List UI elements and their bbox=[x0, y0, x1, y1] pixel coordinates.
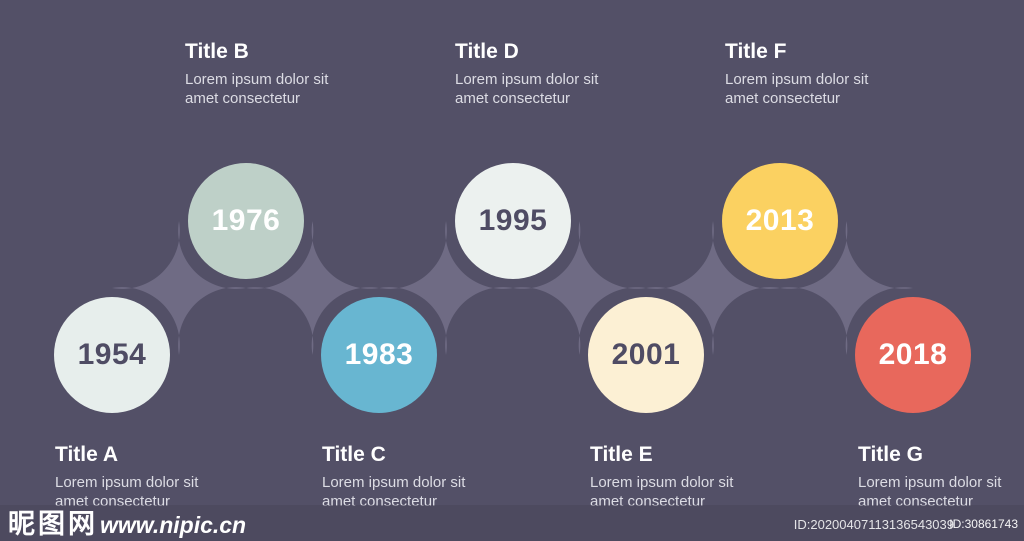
text-block-body: Lorem ipsum dolor sit amet consectetur bbox=[725, 70, 905, 108]
text-block-title: Title C bbox=[322, 443, 502, 466]
text-block-body: Lorem ipsum dolor sit amet consectetur bbox=[185, 70, 365, 108]
text-block-title: Title G bbox=[858, 443, 1024, 466]
node-year-label: 1983 bbox=[345, 340, 414, 370]
text-block-title-f: Title FLorem ipsum dolor sit amet consec… bbox=[725, 40, 905, 108]
timeline-node-2018[interactable]: 2018 bbox=[855, 297, 971, 413]
infographic-canvas: 1954197619831995200120132018 Title ALore… bbox=[0, 0, 1024, 541]
text-block-title-c: Title CLorem ipsum dolor sit amet consec… bbox=[322, 443, 502, 511]
text-block-title: Title F bbox=[725, 40, 905, 63]
watermark-url-text: www.nipic.cn bbox=[100, 514, 246, 537]
node-year-label: 1995 bbox=[479, 206, 548, 236]
text-block-title: Title A bbox=[55, 443, 235, 466]
timeline-node-1995[interactable]: 1995 bbox=[455, 163, 571, 279]
node-year-label: 2018 bbox=[879, 340, 948, 370]
timeline-node-1983[interactable]: 1983 bbox=[321, 297, 437, 413]
node-year-label: 1976 bbox=[212, 206, 281, 236]
timeline-node-1954[interactable]: 1954 bbox=[54, 297, 170, 413]
timeline-node-2013[interactable]: 2013 bbox=[722, 163, 838, 279]
text-block-title-a: Title ALorem ipsum dolor sit amet consec… bbox=[55, 443, 235, 511]
text-block-title-e: Title ELorem ipsum dolor sit amet consec… bbox=[590, 443, 770, 511]
text-block-title: Title E bbox=[590, 443, 770, 466]
text-block-title: Title D bbox=[455, 40, 635, 63]
node-year-label: 2013 bbox=[746, 206, 815, 236]
node-year-label: 1954 bbox=[78, 340, 147, 370]
node-year-label: 2001 bbox=[612, 340, 681, 370]
watermark-id-ghost: ID:20200407113136543039 bbox=[794, 517, 954, 532]
text-block-title-d: Title DLorem ipsum dolor sit amet consec… bbox=[455, 40, 635, 108]
text-block-title-g: Title GLorem ipsum dolor sit amet consec… bbox=[858, 443, 1024, 511]
watermark-brand: 昵图网 www.nipic.cn bbox=[8, 511, 246, 538]
text-block-body: Lorem ipsum dolor sit amet consectetur bbox=[455, 70, 635, 108]
watermark-id: ID:30861743 bbox=[949, 517, 1018, 531]
timeline-node-1976[interactable]: 1976 bbox=[188, 163, 304, 279]
text-block-title-b: Title BLorem ipsum dolor sit amet consec… bbox=[185, 40, 365, 108]
watermark-cjk-text: 昵图网 bbox=[8, 511, 98, 538]
timeline-node-2001[interactable]: 2001 bbox=[588, 297, 704, 413]
text-block-title: Title B bbox=[185, 40, 365, 63]
